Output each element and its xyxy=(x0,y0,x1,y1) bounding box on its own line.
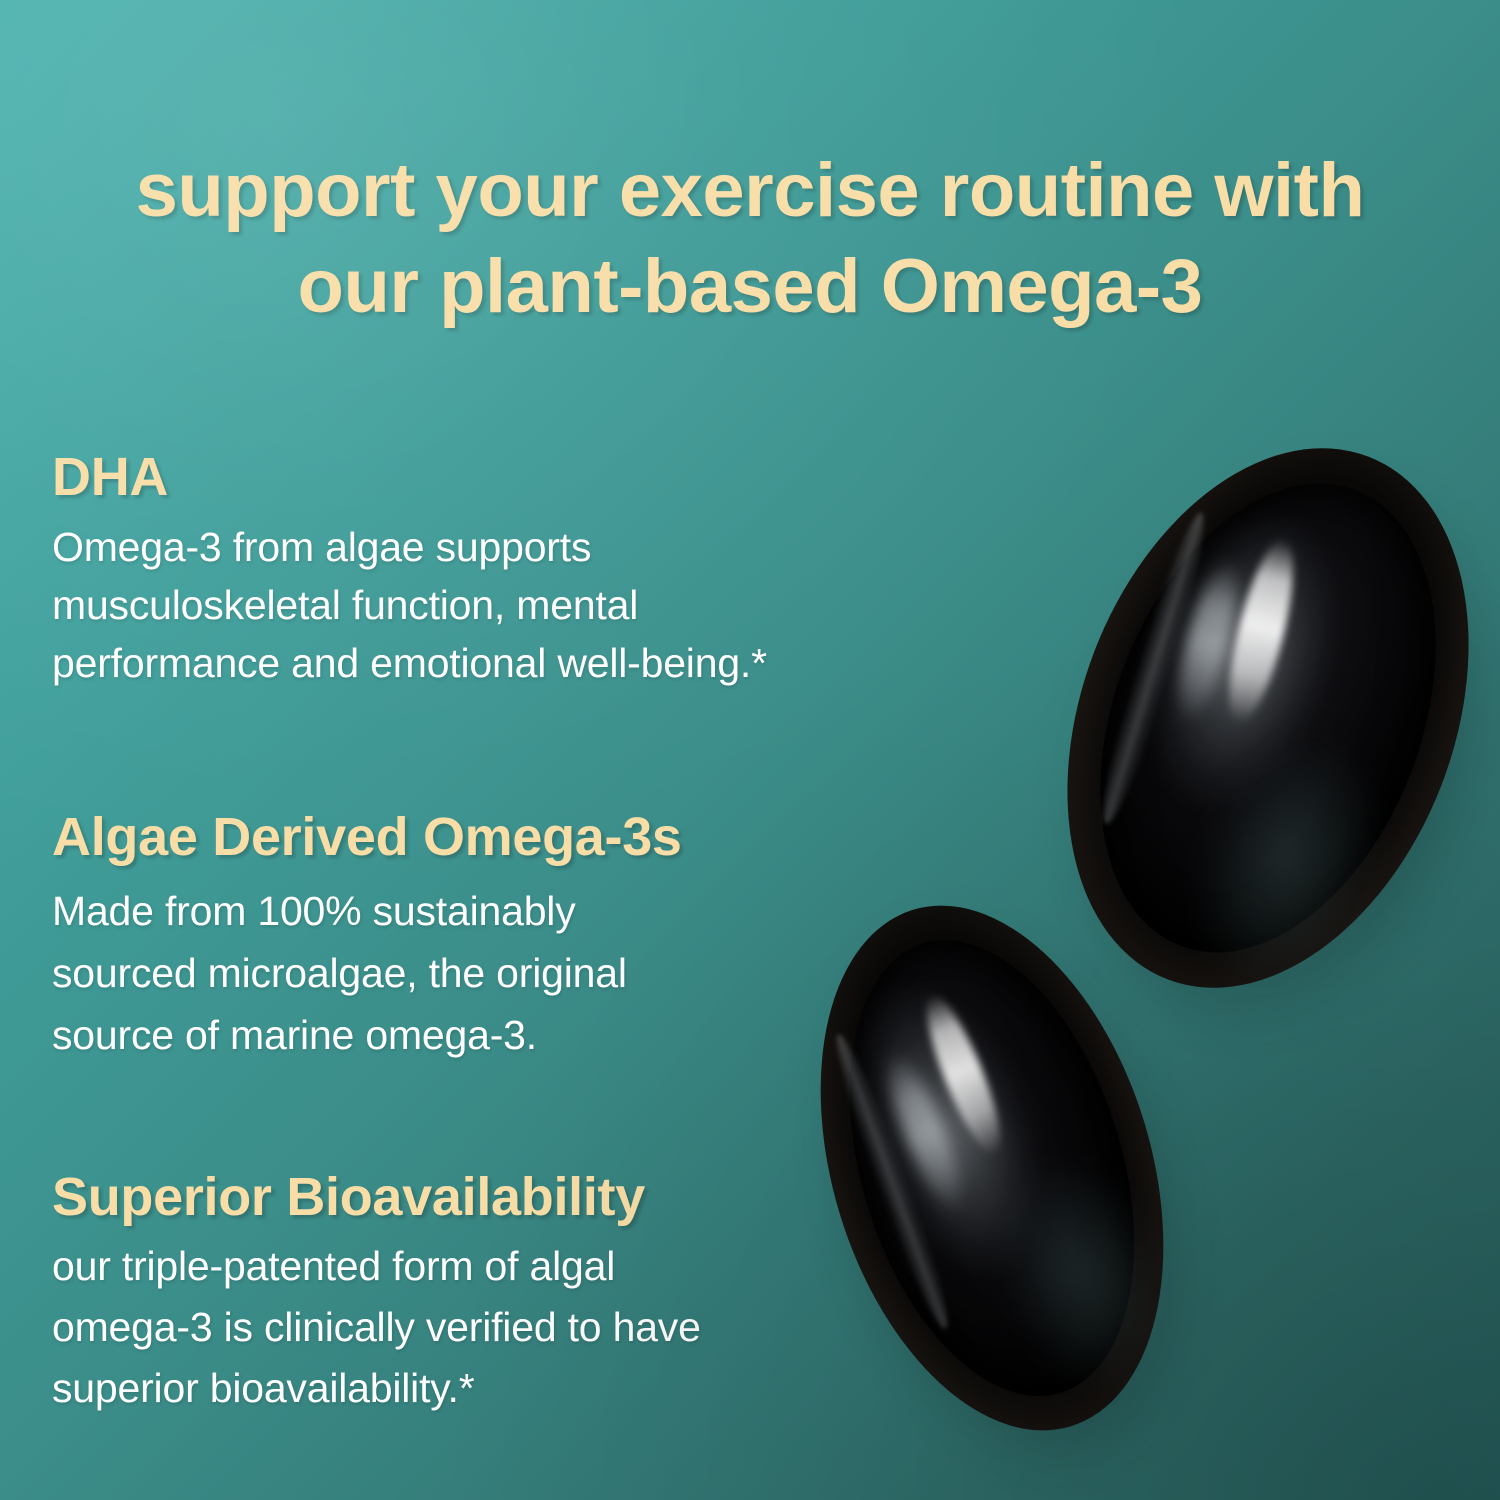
benefit-body-line: our triple-patented form of algal xyxy=(52,1236,701,1297)
benefit-section-algae: Algae Derived Omega-3s Made from 100% su… xyxy=(52,806,682,1066)
benefit-body-line: sourced microalgae, the original xyxy=(52,942,682,1004)
benefit-body-line: Omega-3 from algae supports xyxy=(52,518,767,576)
benefit-heading-algae: Algae Derived Omega-3s xyxy=(52,806,682,868)
benefit-body-line: source of marine omega-3. xyxy=(52,1004,682,1066)
benefit-body-line: musculoskeletal function, mental xyxy=(52,576,767,634)
headline-line-2: our plant-based Omega-3 xyxy=(0,239,1500,335)
benefit-section-bioavailability: Superior Bioavailability our triple-pate… xyxy=(52,1166,701,1419)
benefit-body-line: Made from 100% sustainably xyxy=(52,880,682,942)
benefit-body-algae: Made from 100% sustainably sourced micro… xyxy=(52,880,682,1066)
benefit-body-bioavailability: our triple-patented form of algal omega-… xyxy=(52,1236,701,1419)
benefit-body-line: omega-3 is clinically verified to have xyxy=(52,1297,701,1358)
benefit-section-dha: DHA Omega-3 from algae supports musculos… xyxy=(52,446,767,692)
benefit-body-dha: Omega-3 from algae supports musculoskele… xyxy=(52,518,767,692)
benefit-body-line: superior bioavailability.* xyxy=(52,1358,701,1419)
headline: support your exercise routine with our p… xyxy=(0,143,1500,335)
content-layer: support your exercise routine with our p… xyxy=(0,0,1500,1500)
benefit-heading-bioavailability: Superior Bioavailability xyxy=(52,1166,701,1228)
headline-line-1: support your exercise routine with xyxy=(0,143,1500,239)
benefit-heading-dha: DHA xyxy=(52,446,767,508)
benefit-body-line: performance and emotional well-being.* xyxy=(52,634,767,692)
product-infographic: support your exercise routine with our p… xyxy=(0,0,1500,1500)
